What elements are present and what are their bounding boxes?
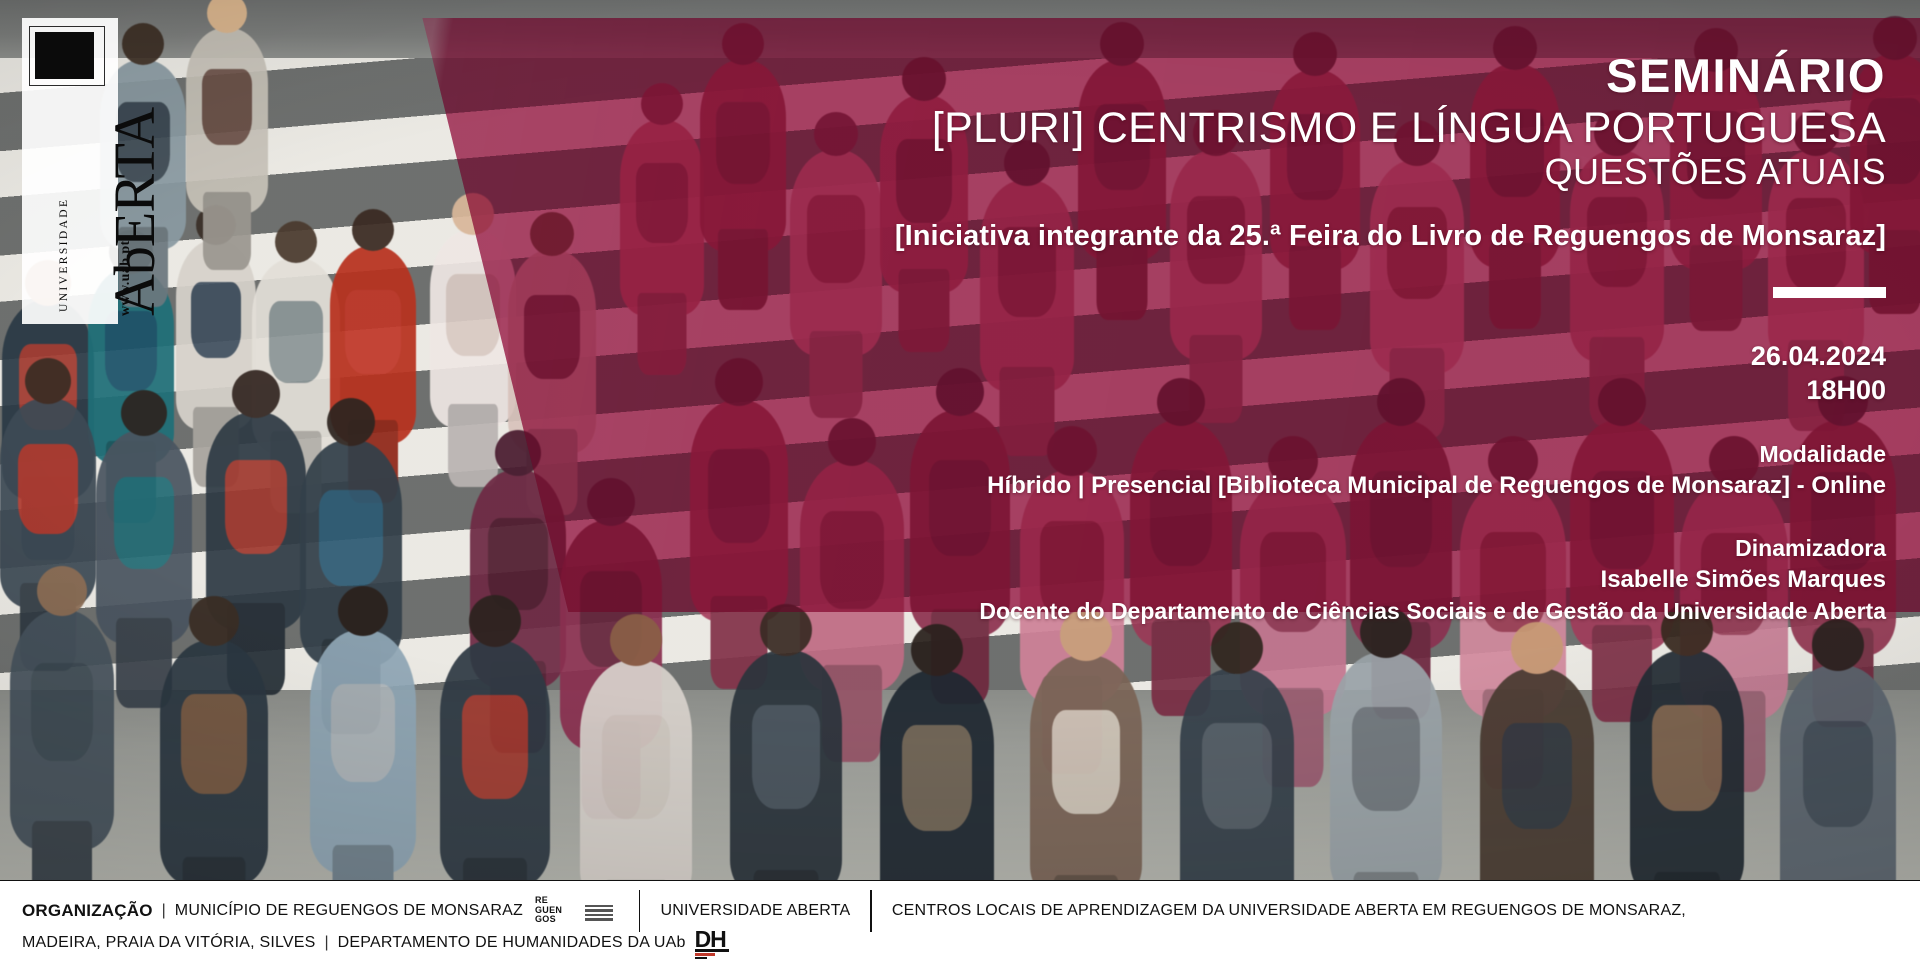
footer-learning-centers: CENTROS LOCAIS DE APRENDIZAGEM DA UNIVER… [892, 902, 1686, 920]
seminar-title-line2: QUESTÕES ATUAIS [326, 152, 1886, 192]
reguengos-logo-line1: RE [535, 895, 548, 905]
reguengos-logo-bars [585, 905, 613, 921]
footer-municipality: MUNICÍPIO DE REGUENGOS DE MONSARAZ [175, 902, 523, 920]
footer-separator-2: | [325, 934, 329, 952]
host-role: Docente do Departamento de Ciências Soci… [326, 596, 1886, 627]
footer-vertical-rule-2 [870, 890, 872, 932]
footer-university: UNIVERSIDADE ABERTA [660, 902, 850, 920]
seminar-kicker: SEMINÁRIO [326, 52, 1886, 99]
initiative-note: [Iniciativa integrante da 25.ª Feira do … [326, 220, 1886, 253]
footer-vertical-rule-1 [639, 890, 641, 932]
seminar-title-line1: [PLURI] CENTRISMO E LÍNGUA PORTUGUESA [326, 104, 1886, 152]
event-date: 26.04.2024 [326, 339, 1886, 374]
footer-credits: ORGANIZAÇÃO | MUNICÍPIO DE REGUENGOS DE … [0, 880, 1920, 960]
reguengos-logo-text: RE GUEN GOS [535, 896, 562, 925]
reguengos-logo-line2: GUEN [535, 905, 562, 915]
white-divider-bar [1773, 287, 1886, 298]
host-label: Dinamizadora [326, 534, 1886, 564]
uab-logo-vertical-text: UNIVERSIDADE AbERTA www.uab.pt [22, 94, 118, 320]
event-time: 18H00 [326, 373, 1886, 408]
dh-logo-icon: DH [695, 927, 737, 959]
footer-row-2: MADEIRA, PRAIA DA VITÓRIA, SILVES | DEPA… [22, 927, 737, 959]
dh-logo-rule-2 [695, 953, 715, 956]
event-datetime: 26.04.2024 18H00 [326, 339, 1886, 408]
modality-value: Híbrido | Presencial [Biblioteca Municip… [326, 470, 1886, 502]
reguengos-logo-icon: RE GUEN GOS [535, 896, 613, 926]
uab-logo-url: www.uab.pt [118, 240, 134, 316]
dh-logo-rule-3 [695, 957, 707, 960]
footer-learning-centers-cont: MADEIRA, PRAIA DA VITÓRIA, SILVES [22, 934, 316, 952]
poster-content: SEMINÁRIO [PLURI] CENTRISMO E LÍNGUA POR… [326, 52, 1886, 627]
uab-logo: UNIVERSIDADE AbERTA www.uab.pt [22, 18, 118, 324]
uab-logo-aberta-label: AbERTA [106, 108, 164, 316]
modality-label: Modalidade [326, 440, 1886, 470]
host-name: Isabelle Simões Marques [326, 564, 1886, 596]
footer-row-1: ORGANIZAÇÃO | MUNICÍPIO DE REGUENGOS DE … [22, 890, 1686, 932]
poster-root: UNIVERSIDADE AbERTA www.uab.pt SEMINÁRIO… [0, 0, 1920, 960]
footer-organization-label: ORGANIZAÇÃO [22, 901, 153, 921]
dh-logo-rule-1 [695, 949, 729, 952]
footer-separator-1: | [162, 902, 166, 920]
reguengos-logo-line3: GOS [535, 914, 556, 924]
footer-department: DEPARTAMENTO DE HUMANIDADES DA UAb [338, 934, 686, 952]
uab-logo-block-icon [35, 32, 94, 79]
uab-logo-universidade-label: UNIVERSIDADE [58, 198, 70, 312]
